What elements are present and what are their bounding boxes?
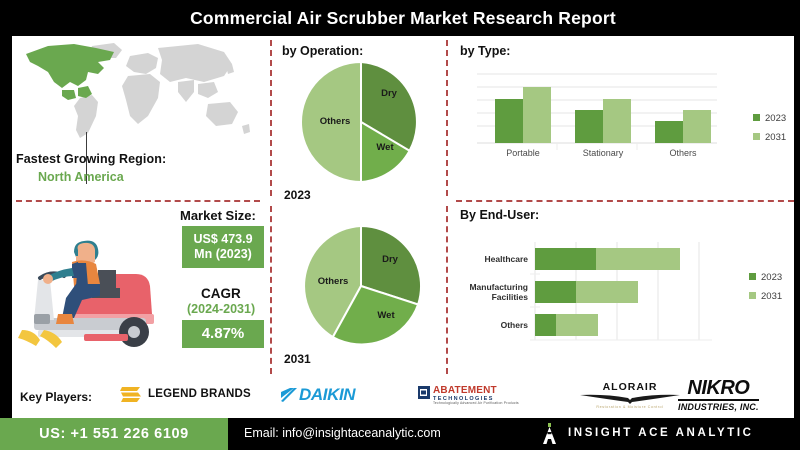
pie-chart-2023: Dry Wet Others — [297, 58, 425, 186]
bar-2023-portable — [495, 99, 523, 143]
logo-nikro-text: NIKRO — [678, 378, 759, 398]
stacked-bar-2031-others — [556, 314, 598, 336]
pie-label-others-2031: Others — [318, 276, 349, 287]
by-operation-title: by Operation: — [282, 44, 363, 58]
logo-nikro: NIKRO INDUSTRIES, INC. — [678, 378, 759, 412]
divider-vertical-right-bottom — [446, 206, 448, 374]
end-user-label-healthcare: Healthcare — [485, 254, 529, 264]
legend-swatch-2031-enduser — [749, 292, 756, 299]
daikin-mark-icon — [280, 386, 298, 404]
bar-category-label-stationary: Stationary — [583, 148, 624, 158]
floor-scrubber-illustration — [16, 222, 176, 352]
divider-vertical-right-top — [446, 40, 448, 196]
logo-alorair-subtext: Restoration & Moisture Control — [578, 405, 682, 409]
bar-category-label-others: Others — [669, 148, 697, 158]
pie-chart-2031: Dry Wet Others — [297, 222, 425, 350]
footer-contact-bar: Email: info@insightaceanalytic.com INSIG… — [228, 418, 800, 450]
bar-2031-stationary — [603, 99, 631, 143]
end-user-label-others: Others — [501, 320, 529, 330]
logo-abatement-technologies: ABATEMENT TECHNOLOGIES Technologically A… — [418, 386, 519, 406]
bar-2031-portable — [523, 87, 551, 143]
by-end-user-title: By End-User: — [460, 208, 539, 222]
divider-horizontal-right — [456, 200, 794, 202]
footer-phone-bar[interactable]: US: +1 551 226 6109 — [0, 418, 228, 450]
pie-label-dry-2023: Dry — [381, 88, 398, 99]
logo-alorair-text: ALORAIR — [578, 381, 682, 393]
logo-legend-brands: LEGEND BRANDS — [120, 385, 251, 403]
infographic-root: Commercial Air Scrubber Market Research … — [0, 0, 800, 450]
end-user-label-manufacturing-line1: Manufacturing — [469, 282, 528, 292]
divider-vertical-left-top — [270, 40, 272, 196]
cagr-years: (2024-2031) — [187, 302, 255, 316]
bar-2023-others — [655, 121, 683, 143]
legend-label-2031-enduser: 2031 — [761, 291, 782, 302]
footer-phone-text: US: +1 551 226 6109 — [39, 426, 189, 442]
logo-abatement-tagline: Technologically Advanced Air Purificatio… — [433, 402, 519, 406]
nikro-rule — [678, 399, 759, 401]
logo-daikin-text: DAIKIN — [299, 385, 355, 405]
pie-2023-year-label: 2023 — [284, 188, 311, 202]
logo-legend-brands-text: LEGEND BRANDS — [148, 388, 251, 400]
stacked-bar-2023-manufacturing — [535, 281, 576, 303]
legend-label-2023: 2023 — [765, 113, 786, 124]
pie-label-wet-2023: Wet — [376, 142, 394, 153]
legend-swatch-2023 — [753, 114, 760, 121]
stacked-bar-2023-others — [535, 314, 556, 336]
pie-label-others-2023: Others — [320, 116, 351, 127]
logo-abatement-text: ABATEMENT — [433, 386, 519, 397]
bar-chart-by-type: Portable Stationary Others 2023 2031 — [467, 60, 797, 180]
end-user-label-manufacturing-line2: Facilities — [492, 292, 529, 302]
pie-2031-year-label: 2031 — [284, 352, 311, 366]
cagr-label: CAGR — [201, 286, 241, 301]
logo-daikin: DAIKIN — [280, 385, 355, 405]
legend-label-2023-enduser: 2023 — [761, 272, 782, 283]
insight-ace-logo-icon — [541, 423, 559, 445]
cagr-value: 4.87% — [182, 320, 264, 348]
footer-brand-text: INSIGHT ACE ANALYTIC — [568, 427, 754, 439]
legend-brands-mark-icon — [120, 385, 142, 403]
market-size-label: Market Size: — [180, 208, 256, 223]
fastest-growing-region-value: North America — [38, 170, 124, 184]
legend-label-2031: 2031 — [765, 132, 786, 143]
header-bar: Commercial Air Scrubber Market Research … — [12, 0, 794, 36]
pie-label-wet-2031: Wet — [377, 310, 395, 321]
logo-alorair: ALORAIR Restoration & Moisture Control — [578, 381, 682, 409]
bar-2031-others — [683, 110, 711, 143]
footer: US: +1 551 226 6109 Email: info@insighta… — [0, 418, 800, 450]
logo-nikro-subtext: INDUSTRIES, INC. — [678, 403, 759, 412]
fastest-growing-label: Fastest Growing Region: — [16, 152, 166, 166]
divider-vertical-left-bottom — [270, 206, 272, 374]
market-size-value-line2: Mn (2023) — [194, 247, 252, 262]
pie-label-dry-2031: Dry — [382, 254, 399, 265]
bar-category-label-portable: Portable — [506, 148, 540, 158]
bar-chart-by-end-user: Healthcare Manufacturing Facilities Othe… — [452, 228, 800, 368]
divider-horizontal-left — [16, 200, 260, 202]
alorair-wings-icon — [580, 393, 680, 405]
stacked-bar-2023-healthcare — [535, 248, 596, 270]
abatement-mark-icon — [418, 386, 430, 399]
stacked-bar-2031-manufacturing — [576, 281, 638, 303]
market-size-value-line1: US$ 473.9 — [193, 232, 252, 247]
world-map — [18, 38, 254, 150]
legend-swatch-2031 — [753, 133, 760, 140]
stacked-bar-2031-healthcare — [596, 248, 680, 270]
footer-email-text[interactable]: Email: info@insightaceanalytic.com — [244, 426, 441, 440]
page-title: Commercial Air Scrubber Market Research … — [190, 8, 616, 29]
legend-swatch-2023-enduser — [749, 273, 756, 280]
key-players-label: Key Players: — [20, 390, 92, 404]
market-size-value: US$ 473.9 Mn (2023) — [182, 226, 264, 268]
bar-2023-stationary — [575, 110, 603, 143]
by-type-title: by Type: — [460, 44, 510, 58]
